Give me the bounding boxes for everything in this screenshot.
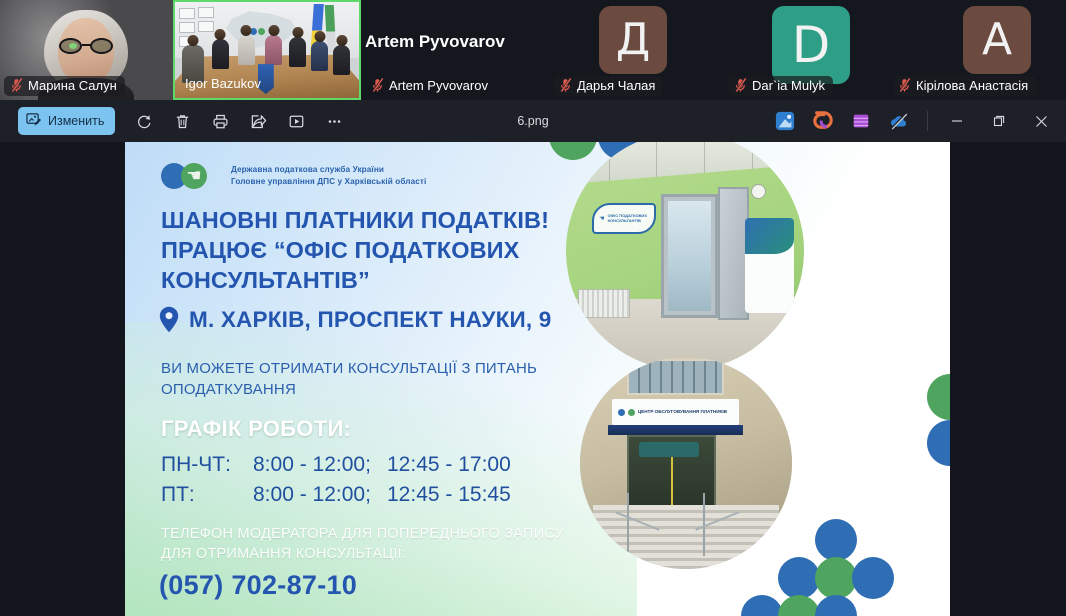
office-sign-text: ОФІС ПОДАТКОВИХ КОНСУЛЬТАНТІВ (608, 214, 655, 224)
building-sign: ЦЕНТР ОБСЛУГОВУВАННЯ ПЛАТНИКІВ (612, 399, 739, 424)
schedule-row: ПТ: 8:00 - 12:00; 12:45 - 15:45 (161, 480, 511, 510)
mic-muted-icon (371, 78, 384, 93)
gallery-icon[interactable] (846, 106, 878, 136)
minimize-button[interactable] (936, 105, 978, 137)
decor-circle-blue (927, 420, 950, 466)
participant-nameplate: Igor Bazukov (179, 74, 269, 94)
edit-image-icon (26, 112, 41, 130)
schedule-title: ГРАФІК РОБОТИ: (161, 416, 351, 442)
decor-circle-blue (815, 519, 857, 561)
participant-tile-kirilova-anastasiia[interactable]: А Кірілова Анастасія (895, 0, 1066, 100)
decor-circle-blue (815, 595, 857, 616)
mic-muted-icon (898, 78, 911, 93)
schedule-days: ПН-ЧТ: (161, 450, 253, 480)
schedule-row: ПН-ЧТ: 8:00 - 12:00; 12:45 - 17:00 (161, 450, 511, 480)
rotate-icon[interactable] (127, 106, 161, 136)
mic-muted-icon (734, 78, 747, 93)
photo-viewer-window: Марина Салун (0, 0, 1066, 616)
logo-line-2: Головне управління ДПС у Харківській обл… (231, 176, 426, 188)
logo-text: Державна податкова служба України Головн… (231, 164, 426, 188)
schedule-morning: 8:00 - 12:00; (253, 450, 387, 480)
participant-name-label: Artem Pyvovarov (389, 78, 488, 93)
more-icon[interactable] (317, 106, 351, 136)
decor-circle-green (778, 595, 820, 616)
toolbar-divider (927, 111, 928, 131)
poster-address-row: М. ХАРКІВ, ПРОСПЕКТ НАУКИ, 9 (159, 306, 552, 333)
participant-tile-marina-salun[interactable]: Марина Салун (0, 0, 173, 100)
tax-service-logo: ☚ Державна податкова служба України Голо… (161, 161, 426, 191)
schedule-rows: ПН-ЧТ: 8:00 - 12:00; 12:45 - 17:00 ПТ: 8… (161, 450, 511, 511)
schedule-afternoon: 12:45 - 17:00 (387, 450, 511, 480)
building-sign-text: ЦЕНТР ОБСЛУГОВУВАННЯ ПЛАТНИКІВ (638, 409, 727, 414)
participant-display-name: Artem Pyvovarov (365, 32, 505, 52)
participant-tile-daria-mulyk[interactable]: D Dar`ia Mulyk (720, 0, 895, 100)
office-sign: ☚ ОФІС ПОДАТКОВИХ КОНСУЛЬТАНТІВ (592, 203, 656, 234)
participant-nameplate: Дарья Чалая (553, 76, 663, 96)
image-canvas[interactable]: ☚ ОФІС ПОДАТКОВИХ КОНСУЛЬТАНТІВ ЦЕНТР ОБ… (125, 142, 950, 616)
decor-circle-green (815, 557, 857, 599)
participant-name-label: Igor Bazukov (185, 76, 261, 91)
print-icon[interactable] (203, 106, 237, 136)
slideshow-icon[interactable] (279, 106, 313, 136)
avatar-initial: Д (616, 18, 650, 62)
poster-address: М. ХАРКІВ, ПРОСПЕКТ НАУКИ, 9 (189, 307, 552, 333)
participant-tile-darya-chalaya[interactable]: Д Дарья Чалая (543, 0, 720, 100)
schedule-days: ПТ: (161, 480, 253, 510)
poster-subtext: ВИ МОЖЕТЕ ОТРИМАТИ КОНСУЛЬТАЦІЇ З ПИТАНЬ… (161, 358, 581, 401)
avatar-initial: D (792, 20, 831, 70)
moderator-phone-note: ТЕЛЕФОН МОДЕРАТОРА ДЛЯ ПОПЕРЕДНЬОГО ЗАПИ… (161, 524, 581, 564)
participant-nameplate: Artem Pyvovarov (365, 76, 496, 96)
mic-muted-icon (10, 78, 23, 93)
participant-name-label: Дарья Чалая (577, 78, 655, 93)
decor-circle-blue (741, 595, 783, 616)
schedule-afternoon: 12:45 - 15:45 (387, 480, 511, 510)
cloud-off-icon[interactable] (884, 106, 916, 136)
participant-name-label: Кірілова Анастасія (916, 78, 1028, 93)
service-center-building-photo: ЦЕНТР ОБСЛУГОВУВАННЯ ПЛАТНИКІВ (580, 357, 792, 569)
avatar-initial: А (982, 18, 1012, 62)
video-participants-strip: Марина Салун (0, 0, 1066, 100)
participant-tile-igor-bazukov[interactable]: Igor Bazukov (173, 0, 361, 100)
participant-nameplate: Dar`ia Mulyk (728, 76, 833, 96)
participant-name-label: Dar`ia Mulyk (752, 78, 825, 93)
trident-icon: ☚ (186, 168, 201, 185)
restore-button[interactable] (978, 105, 1020, 137)
participant-name-label: Марина Салун (28, 78, 117, 93)
mic-muted-icon (559, 78, 572, 93)
snip-tool-icon[interactable] (770, 106, 802, 136)
office-interior-photo: ☚ ОФІС ПОДАТКОВИХ КОНСУЛЬТАНТІВ (566, 142, 804, 370)
photo-viewer-toolbar: Изменить (0, 100, 1066, 142)
logo-line-1: Державна податкова служба України (231, 164, 426, 176)
edit-button-label: Изменить (48, 114, 104, 128)
participant-avatar: А (963, 6, 1031, 74)
participant-nameplate: Кірілова Анастасія (895, 76, 1036, 96)
participant-avatar: D (772, 6, 850, 84)
schedule-morning: 8:00 - 12:00; (253, 480, 387, 510)
decor-circle-blue (852, 557, 894, 599)
participant-avatar: Д (599, 6, 667, 74)
poster-headline: ШАНОВНІ ПЛАТНИКИ ПОДАТКІВ! ПРАЦЮЄ “ОФІС … (161, 206, 601, 296)
decor-circle-green (927, 374, 950, 420)
edit-button[interactable]: Изменить (18, 107, 115, 135)
location-pin-icon (159, 306, 179, 333)
participant-tile-artem-pyvovarov[interactable]: Artem Pyvovarov Artem Pyvovarov (361, 0, 543, 100)
designer-icon[interactable] (808, 106, 840, 136)
moderator-phone-number: (057) 702-87-10 (159, 570, 357, 601)
share-icon[interactable] (241, 106, 275, 136)
delete-icon[interactable] (165, 106, 199, 136)
window-right-controls (767, 100, 1066, 142)
logo-circles: ☚ (161, 161, 223, 191)
participant-nameplate: Марина Салун (4, 76, 125, 96)
close-button[interactable] (1020, 105, 1062, 137)
